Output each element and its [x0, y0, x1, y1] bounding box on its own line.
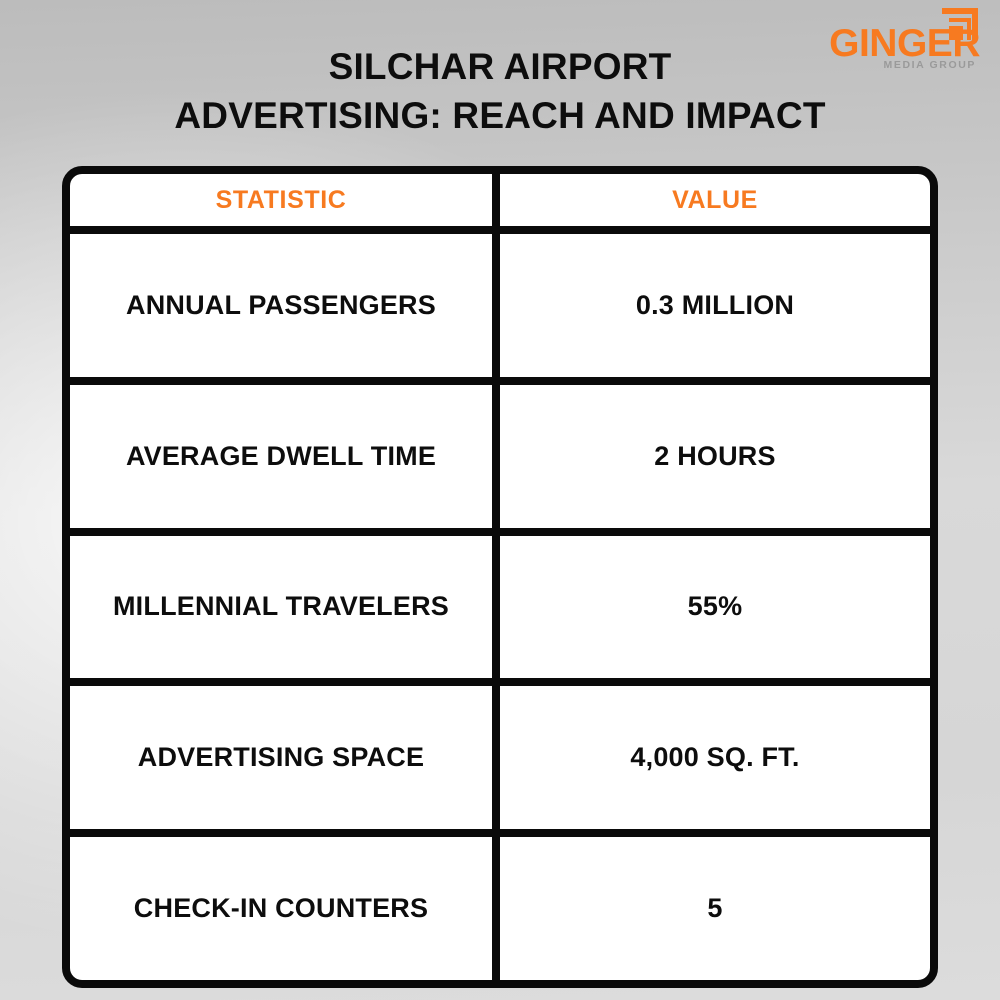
cell-statistic: MILLENNIAL TRAVELERS — [70, 536, 500, 679]
table-header-row: STATISTIC VALUE — [70, 174, 930, 234]
statistics-table: STATISTIC VALUE ANNUAL PASSENGERS 0.3 MI… — [62, 166, 938, 988]
table-row: AVERAGE DWELL TIME 2 HOURS — [70, 385, 930, 536]
column-header-statistic: STATISTIC — [70, 174, 500, 226]
table-row: CHECK-IN COUNTERS 5 — [70, 837, 930, 980]
column-header-value: VALUE — [500, 174, 930, 226]
page-title-line-1: SILCHAR AIRPORT — [0, 42, 1000, 91]
cell-statistic: ANNUAL PASSENGERS — [70, 234, 500, 377]
cell-statistic: AVERAGE DWELL TIME — [70, 385, 500, 528]
table-row: ANNUAL PASSENGERS 0.3 MILLION — [70, 234, 930, 385]
page-title-line-2: ADVERTISING: REACH AND IMPACT — [0, 91, 1000, 140]
cell-value: 0.3 MILLION — [500, 234, 930, 377]
cell-value: 5 — [500, 837, 930, 980]
cell-value: 55% — [500, 536, 930, 679]
page-title: SILCHAR AIRPORT ADVERTISING: REACH AND I… — [0, 42, 1000, 140]
table-row: ADVERTISING SPACE 4,000 SQ. FT. — [70, 686, 930, 837]
cell-value: 2 HOURS — [500, 385, 930, 528]
cell-statistic: ADVERTISING SPACE — [70, 686, 500, 829]
cell-statistic: CHECK-IN COUNTERS — [70, 837, 500, 980]
cell-value: 4,000 SQ. FT. — [500, 686, 930, 829]
table-row: MILLENNIAL TRAVELERS 55% — [70, 536, 930, 687]
